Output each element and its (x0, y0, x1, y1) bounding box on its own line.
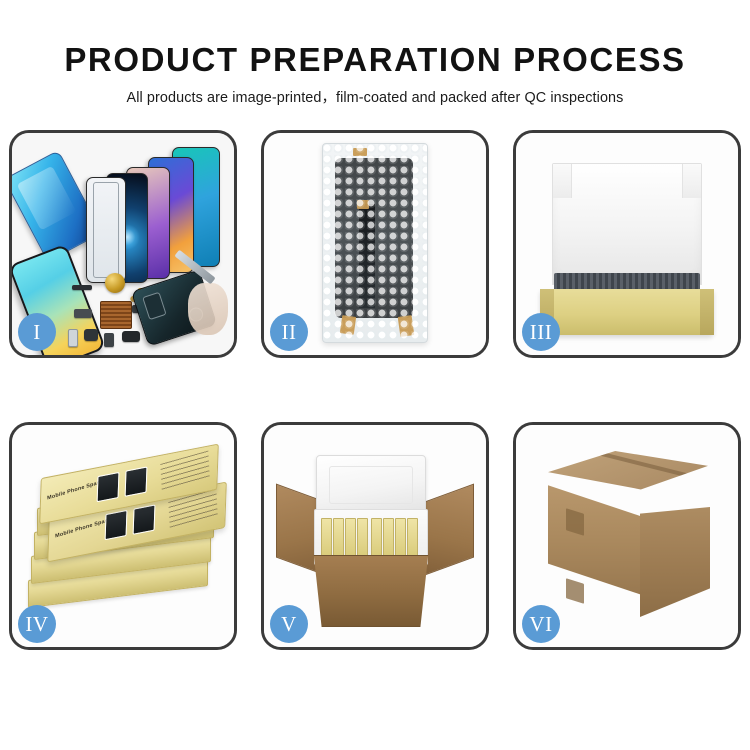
box-label-phone-image (133, 504, 156, 534)
packed-box (321, 518, 332, 560)
yellow-box-tray (540, 289, 714, 335)
process-step-panel-2: II (261, 130, 489, 358)
packed-box (345, 518, 356, 560)
open-inner-box (540, 155, 714, 329)
packed-box (383, 518, 394, 560)
step-badge-4: IV (18, 605, 56, 643)
small-part (122, 331, 140, 342)
sealed-carton (532, 451, 722, 625)
process-step-panel-4: Mobile Phone Spare Parts Mobile Phone Sp… (9, 422, 237, 650)
kraft-tape (340, 315, 356, 335)
process-step-panel-6: VI (513, 422, 741, 650)
carton-seam (587, 449, 704, 482)
page-title: PRODUCT PREPARATION PROCESS (0, 40, 750, 80)
small-part (74, 309, 92, 318)
step-badge-5: V (270, 605, 308, 643)
bubble-wrap-bag (322, 143, 428, 343)
header: PRODUCT PREPARATION PROCESS All products… (0, 0, 750, 108)
step-badge-3: III (522, 313, 560, 351)
box-label-phone-image (125, 466, 148, 496)
process-step-panel-5: V (261, 422, 489, 650)
packed-box (357, 518, 368, 560)
box-label-spec-lines (160, 451, 209, 492)
step-badge-2: II (270, 313, 308, 351)
process-step-panel-1: I (9, 130, 237, 358)
carton-flap-right (422, 484, 474, 577)
step-badge-6: VI (522, 605, 560, 643)
copper-chip-part (100, 301, 132, 329)
small-part (104, 333, 114, 347)
screen-flex-cable (359, 204, 375, 308)
kraft-tape (353, 148, 367, 156)
box-label-phone-image (105, 510, 128, 540)
packed-box (395, 518, 406, 560)
box-label-phone-image (97, 472, 120, 502)
phone-screen-fan (64, 147, 224, 277)
page-subtitle: All products are image-printed，film-coat… (0, 89, 750, 108)
kraft-tape (398, 315, 415, 337)
stacked-boxes: Mobile Phone Spare Parts Mobile Phone Sp… (26, 447, 220, 625)
packed-box (371, 518, 382, 560)
foam-box-lid (316, 455, 426, 515)
technician-hand (188, 283, 228, 335)
packed-box (407, 518, 418, 560)
carton-left-face (548, 483, 642, 595)
process-step-panel-3: III (513, 130, 741, 358)
carton-front-face (306, 555, 436, 627)
small-part (72, 285, 92, 290)
white-foam-lid (552, 163, 702, 285)
small-part (84, 329, 98, 341)
carton-right-face (640, 507, 710, 617)
carton-with-foam-box (280, 443, 470, 627)
small-part (68, 329, 78, 347)
packed-box (333, 518, 344, 560)
phone-screen-glass-protector (86, 177, 126, 283)
step-badge-1: I (18, 313, 56, 351)
carton-tape-patch (566, 578, 584, 604)
product-preparation-infographic: PRODUCT PREPARATION PROCESS All products… (0, 0, 750, 750)
process-step-grid: I II (7, 130, 743, 650)
gold-coil-part (105, 273, 125, 293)
kraft-tape (357, 200, 369, 209)
